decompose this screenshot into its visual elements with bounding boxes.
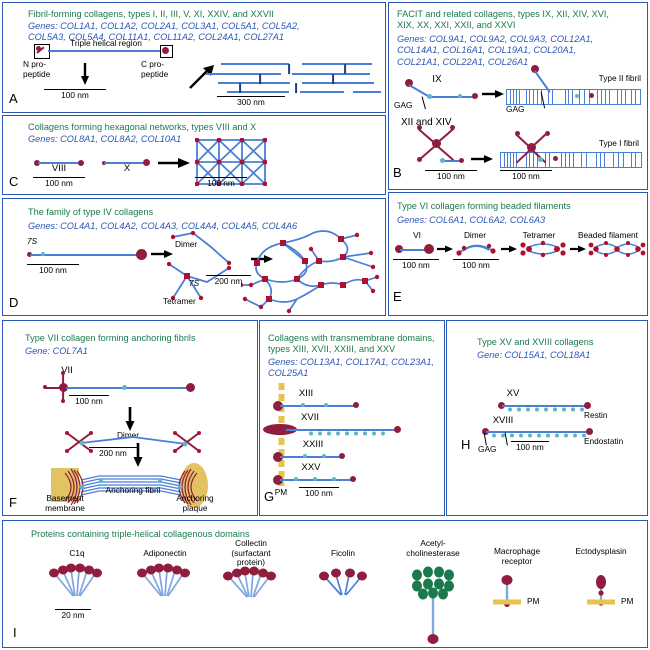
ix-arm (409, 84, 429, 97)
ache-graphic (407, 565, 459, 645)
xiii-rod (280, 405, 356, 407)
macrophage-receptor-graphic (487, 571, 543, 613)
panel-c-title: Collagens forming hexagonal networks, ty… (28, 122, 378, 133)
anchoring-plaque-label: Anchoring plaque (159, 494, 231, 513)
panel-d-title: The family of type IV collagens (28, 207, 378, 218)
ix-node (427, 94, 432, 99)
c-propeptide-knob (162, 47, 169, 54)
e-arrow-2 (501, 243, 517, 255)
ix-end-knob (472, 93, 478, 99)
xii-xiv-arrow (471, 153, 493, 165)
ix-rod (428, 96, 475, 98)
xxv-node3 (332, 477, 336, 481)
vii-end-knob (186, 383, 195, 392)
ix-node2 (458, 94, 462, 98)
panel-g-title: Collagens with transmembrane domains, ty… (268, 333, 444, 356)
vi-tetramer (519, 239, 567, 259)
tetramer-label-d: Tetramer (163, 297, 213, 307)
vi-label: VI (397, 231, 437, 241)
panel-f-title: Type VII collagen forming anchoring fibr… (25, 333, 255, 344)
xiii-node2 (324, 403, 328, 407)
xviii-label: XVIII (479, 416, 527, 426)
c-propeptide-label: C pro- peptide (141, 60, 189, 79)
type-i-fibril-label: Type I fibril (567, 139, 639, 149)
triple-helix-rod (48, 50, 163, 52)
adiponectin-label: Adiponectin (125, 549, 205, 559)
endostatin-label: Endostatin (584, 437, 646, 447)
assembly-arrow-down (78, 63, 92, 85)
type-ii-fibril-label: Type II fibril (565, 74, 641, 84)
xiii-node1 (301, 403, 305, 407)
panel-a: Fibril-forming collagens, types I, II, I… (2, 2, 386, 113)
collectin-graphic (221, 565, 281, 599)
hexnet-arrow (158, 156, 190, 170)
pm-label-g: PM (268, 488, 294, 498)
xvii-end (394, 426, 401, 433)
panel-h: Type XV and XVIII collagens Gene: COL15A… (446, 320, 648, 516)
macrophage-receptor-label: Macrophage receptor (473, 547, 561, 566)
type-i-fibril (500, 152, 642, 168)
triple-helical-region-label: Triple helical region (51, 39, 161, 49)
d-node (41, 252, 45, 256)
restin-label: Restin (584, 411, 634, 421)
panel-f-scalebar-100nm-text: 100 nm (69, 396, 109, 406)
d-arrow-1 (151, 248, 173, 260)
vii-label: VII (47, 366, 87, 376)
xxiii-rod (280, 456, 342, 458)
panel-b-title: FACIT and related collagens, types IX, X… (397, 9, 645, 32)
seven-s-mid-label: 7S (189, 279, 205, 289)
ficolin-label: Ficolin (309, 549, 377, 559)
panel-a-letter: A (9, 91, 18, 106)
acetylcholinesterase-label: Acetyl- cholinesterase (385, 539, 481, 558)
ectodysplasin-label: Ectodysplasin (559, 547, 643, 557)
n-propeptide-knob (36, 46, 41, 51)
viii-right-knob (78, 160, 84, 166)
panel-h-title: Type XV and XVIII collagens (477, 337, 647, 348)
xxiii-label: XXIII (290, 440, 336, 450)
xiii-end (353, 402, 359, 408)
panel-e-genes: Genes: COL6A1, COL6A2, COL6A3 (397, 215, 645, 226)
vii-cross-left (43, 385, 47, 389)
panel-g: Collagens with transmembrane domains, ty… (259, 320, 445, 516)
e-arrow-1 (437, 243, 453, 255)
panel-b: FACIT and related collagens, types IX, X… (388, 2, 648, 190)
vii-node (122, 385, 127, 390)
panel-c: Collagens forming hexagonal networks, ty… (2, 115, 386, 195)
ectodysplasin-graphic (581, 571, 637, 613)
panel-f-letter: F (9, 495, 17, 510)
gag-fibril-label: GAG (506, 105, 540, 115)
gag-left-label: GAG (394, 101, 426, 111)
panel-e-scalebar-right-text: 100 nm (453, 260, 499, 270)
panel-d-letter: D (9, 295, 18, 310)
panel-i-scalebar-20nm-text: 20 nm (55, 610, 91, 620)
panel-b-scalebar-left-text: 100 nm (425, 171, 477, 181)
d-rod (30, 254, 140, 256)
panel-i-letter: I (13, 625, 17, 640)
gag-label-h: GAG (478, 445, 510, 455)
ficolin-graphic (319, 565, 369, 599)
assembly-arrow-diagonal (189, 65, 215, 89)
pm-label-ectodysplasin: PM (621, 597, 647, 607)
type-ii-fibril (506, 89, 641, 105)
xv-right-knob (584, 402, 591, 409)
xii-xiv-label: XII and XIV (401, 118, 481, 128)
xxiii-node1 (303, 454, 307, 458)
ix-label: IX (425, 75, 449, 85)
panel-f-scalebar-200nm-text: 200 nm (89, 448, 137, 458)
xviii-right-knob (586, 428, 593, 435)
xv-nodes (507, 401, 585, 410)
pm-label-macrophage: PM (527, 597, 553, 607)
panel-e-title: Type VI collagen forming beaded filament… (397, 201, 645, 212)
panel-h-scalebar-100nm-text: 100 nm (511, 442, 549, 452)
panel-b-letter: B (393, 165, 402, 180)
vii-cross-bottom (61, 399, 65, 403)
c1q-graphic (47, 562, 107, 598)
fibril-node-b (589, 93, 594, 98)
panel-a-scalebar-300nm-text: 300 nm (217, 97, 285, 107)
xxiii-end (339, 453, 345, 459)
panel-h-genes: Gene: COL15A1, COL18A1 (477, 350, 647, 361)
adiponectin-graphic (135, 562, 195, 598)
vii-rod (66, 387, 190, 389)
xv-label: XV (493, 389, 533, 399)
x-label: X (109, 164, 145, 174)
panel-e-letter: E (393, 289, 402, 304)
panel-b-scalebar-right-text: 100 nm (500, 171, 552, 181)
collectin-label: Collectin (surfactant protein) (209, 539, 293, 568)
panel-b-genes: Genes: COL9A1, COL9A2, COL9A3, COL12A1, … (397, 34, 645, 68)
panel-d-scalebar-200nm-text: 200 nm (206, 276, 251, 286)
xxv-label: XXV (290, 463, 332, 473)
d-right-knob (136, 249, 147, 260)
panel-c-scalebar-left-text: 100 nm (33, 178, 85, 188)
panel-e: Type VI collagen forming beaded filament… (388, 192, 648, 316)
vi-right-knob (424, 244, 434, 254)
panel-f-genes: Gene: COL7A1 (25, 346, 255, 357)
dimer-label-d: Dimer (175, 240, 215, 250)
fibril-node-a (575, 94, 579, 98)
c1q-label: C1q (43, 549, 111, 559)
e-arrow-3 (570, 243, 586, 255)
xvii-label: XVII (288, 413, 332, 423)
xxv-node1 (294, 477, 298, 481)
xiii-label: XIII (286, 389, 326, 399)
xxv-end (350, 476, 356, 482)
n-propeptide-label: N pro- peptide (23, 60, 68, 79)
panel-d-scalebar-100nm-text: 100 nm (27, 265, 79, 275)
vi-beaded-filament (588, 239, 646, 259)
panel-g-genes: Genes: COL13A1, COL17A1, COL23A1, COL25A… (268, 357, 444, 380)
panel-e-scalebar-left-text: 100 nm (393, 260, 439, 270)
d-network (241, 227, 381, 315)
viii-label: VIII (41, 164, 77, 174)
panel-h-letter: H (461, 437, 470, 452)
panel-c-letter: C (9, 174, 18, 189)
vii-cross-top (61, 371, 65, 375)
panel-f: Type VII collagen forming anchoring fibr… (2, 320, 258, 516)
xxiii-node2 (322, 454, 326, 458)
panel-i: Proteins containing triple-helical colla… (2, 520, 648, 648)
basement-membrane-label: Basement membrane (29, 494, 101, 513)
panel-g-scalebar-100nm-text: 100 nm (299, 488, 339, 498)
panel-a-scalebar-100nm-text: 100 nm (44, 90, 106, 100)
figure-root: Fibril-forming collagens, types I, II, I… (0, 0, 650, 650)
seven-s-left-label: 7S (27, 237, 47, 247)
panel-d: The family of type IV collagens Genes: C… (2, 198, 386, 316)
ix-arrow (482, 88, 504, 100)
xxv-node2 (313, 477, 317, 481)
panel-c-scalebar-right-text: 100 nm (195, 178, 247, 188)
panel-a-title: Fibril-forming collagens, types I, II, I… (28, 9, 383, 20)
vi-dimer (455, 239, 499, 257)
xvii-nodes (308, 425, 394, 434)
